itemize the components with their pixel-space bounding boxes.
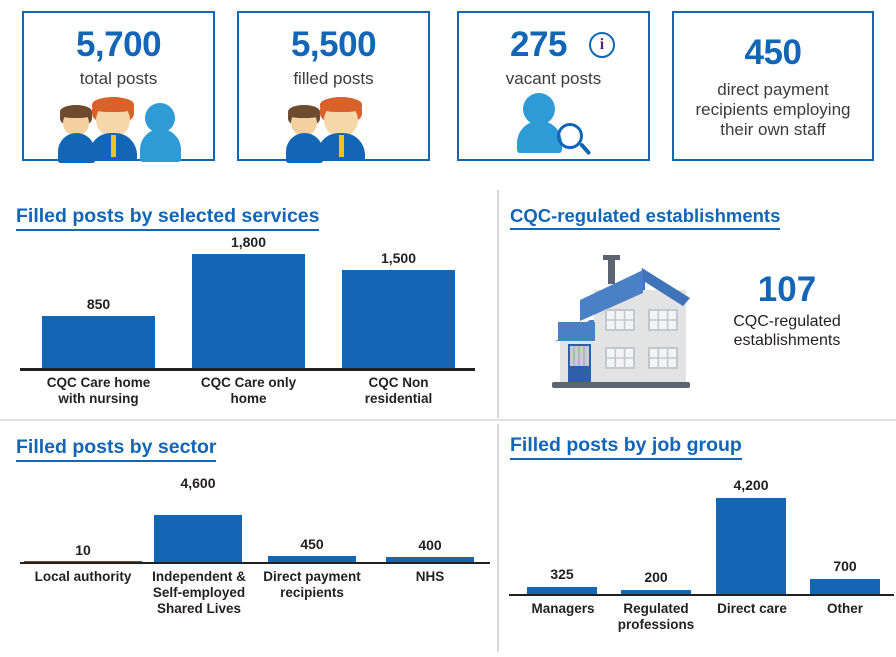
bar-managers[interactable] (527, 587, 597, 594)
cat-line: Direct care (706, 601, 798, 617)
bar-value-regulated-professions: 200 (621, 569, 691, 585)
house-icon (542, 248, 692, 393)
bar-cqc-care-only-home[interactable] (192, 254, 305, 368)
cat-line: Other (802, 601, 888, 617)
bar-category-nhs: NHS (380, 569, 480, 585)
bar-value-independent-self-employed-shared-lives: 4,600 (154, 475, 242, 491)
panel-cqc-regulated-establishments: CQC-regulated establishments (497, 190, 896, 419)
direct-payment-number: 450 (674, 35, 872, 70)
bar-value-cqc-care-home-with-nursing: 850 (42, 296, 155, 312)
bar-regulated-professions[interactable] (621, 590, 691, 594)
house-icon-svg (542, 248, 692, 393)
kpi-card-direct-payment-recipients[interactable]: 450 direct payment recipients employing … (672, 11, 874, 161)
bar-category-cqc-care-only-home: CQC Care only home (177, 375, 320, 407)
bar-independent-self-employed-shared-lives[interactable] (154, 515, 242, 562)
cqc-establishments-label: CQC-regulated establishments (702, 312, 872, 350)
cqc-establishments-label-line-1: CQC-regulated (702, 312, 872, 331)
direct-payment-label-line-3: their own staff (684, 120, 862, 140)
cat-line: Independent & (143, 569, 255, 585)
bar-value-direct-payment-recipients: 450 (268, 536, 356, 552)
bar-value-other: 700 (810, 558, 880, 574)
bar-other[interactable] (810, 579, 880, 594)
bar-category-regulated-professions: Regulated professions (609, 601, 703, 633)
info-icon-glyph: i (600, 37, 604, 53)
direct-payment-label-line-1: direct payment (684, 80, 862, 100)
bar-local-authority[interactable] (24, 561, 142, 562)
panel-filled-posts-by-sector: Filled posts by sector 10 Local authorit… (0, 424, 497, 657)
cat-line: Local authority (10, 569, 156, 585)
cat-line: recipients (254, 585, 370, 601)
bar-value-managers: 325 (527, 566, 597, 582)
infographic-canvas: 5,700 total posts (0, 0, 896, 657)
bar-category-local-authority: Local authority (10, 569, 156, 585)
cqc-establishments-number: 107 (707, 272, 867, 307)
bar-value-direct-care: 4,200 (716, 477, 786, 493)
divider-horizontal (0, 419, 896, 421)
bar-nhs[interactable] (386, 557, 474, 562)
cat-line: NHS (380, 569, 480, 585)
chart-axis-baseline (20, 368, 475, 371)
bar-category-direct-payment-recipients: Direct payment recipients (254, 569, 370, 601)
chart-filled-posts-by-sector: 10 Local authority 4,600 Independent & S… (0, 424, 497, 657)
chart-axis-baseline (509, 594, 894, 596)
filled-posts-number: 5,500 (239, 27, 428, 62)
panel-filled-posts-by-job-group: Filled posts by job group 325 Managers 2… (497, 424, 896, 657)
bar-category-managers: Managers (517, 601, 609, 617)
cat-line: Regulated (609, 601, 703, 617)
bar-category-independent-self-employed-shared-lives: Independent & Self-employed Shared Lives (143, 569, 255, 616)
cat-line: Direct payment (254, 569, 370, 585)
total-posts-number: 5,700 (24, 27, 213, 62)
cat-line: Managers (517, 601, 609, 617)
bar-value-cqc-non-residential: 1,500 (342, 250, 455, 266)
cat-line: Shared Lives (143, 601, 255, 617)
cat-line: CQC Care home (27, 375, 170, 391)
cat-line: CQC Care only (177, 375, 320, 391)
bar-category-cqc-care-home-with-nursing: CQC Care home with nursing (27, 375, 170, 407)
cat-line: residential (327, 391, 470, 407)
vacant-posts-label: vacant posts (459, 69, 648, 89)
cqc-establishments-label-line-2: establishments (702, 331, 872, 350)
cat-line: home (177, 391, 320, 407)
direct-payment-label: direct payment recipients employing thei… (674, 80, 872, 140)
chart-filled-posts-by-selected-services: 850 CQC Care home with nursing 1,800 CQC… (0, 190, 497, 419)
filled-posts-label: filled posts (239, 69, 428, 89)
kpi-card-total-posts[interactable]: 5,700 total posts (22, 11, 215, 161)
bar-value-local-authority: 10 (24, 542, 142, 558)
kpi-card-filled-posts[interactable]: 5,500 filled posts (237, 11, 430, 161)
bar-direct-payment-recipients[interactable] (268, 556, 356, 562)
bar-direct-care[interactable] (716, 498, 786, 594)
two-people-icon (239, 93, 428, 157)
three-people-icon (24, 93, 213, 157)
kpi-card-vacant-posts[interactable]: 275 i vacant posts (457, 11, 650, 161)
chart-filled-posts-by-job-group: 325 Managers 200 Regulated professions 4… (497, 424, 896, 657)
bar-value-nhs: 400 (386, 537, 474, 553)
bar-cqc-care-home-with-nursing[interactable] (42, 316, 155, 368)
panel-filled-posts-by-selected-services: Filled posts by selected services 850 CQ… (0, 190, 497, 419)
cat-line: Self-employed (143, 585, 255, 601)
info-icon[interactable]: i (589, 32, 615, 58)
cat-line: professions (609, 617, 703, 633)
vacant-posts-number: 275 (510, 27, 567, 62)
bar-value-cqc-care-only-home: 1,800 (192, 234, 305, 250)
cat-line: CQC Non (327, 375, 470, 391)
kpi-card-row: 5,700 total posts (0, 0, 896, 178)
chart-axis-baseline (20, 562, 490, 564)
bar-category-other: Other (802, 601, 888, 617)
direct-payment-label-line-2: recipients employing (684, 100, 862, 120)
total-posts-label: total posts (24, 69, 213, 89)
bar-category-direct-care: Direct care (706, 601, 798, 617)
cat-line: with nursing (27, 391, 170, 407)
bar-category-cqc-non-residential: CQC Non residential (327, 375, 470, 407)
bar-cqc-non-residential[interactable] (342, 270, 455, 368)
panel-title-cqc-establishments: CQC-regulated establishments (510, 205, 780, 230)
person-search-icon (459, 93, 648, 157)
